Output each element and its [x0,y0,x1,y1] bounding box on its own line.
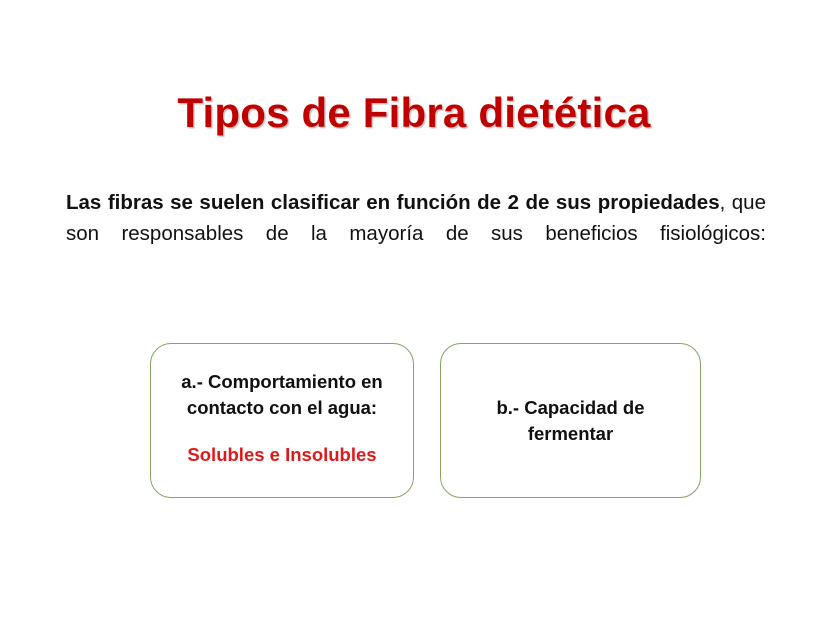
slide-canvas: Tipos de Fibra dietética Las fibras se s… [0,0,828,621]
concept-box-a-subline: Solubles e Insolubles [187,442,376,468]
concept-box-a: a.- Comportamiento en contacto con el ag… [150,343,414,498]
body-paragraph: Las fibras se suelen clasificar en funci… [66,187,766,282]
page-title: Tipos de Fibra dietética [0,90,828,136]
concept-box-b-heading: b.- Capacidad de fermentar [455,395,686,446]
concept-box-a-heading: a.- Comportamiento en contacto con el ag… [163,369,401,420]
body-paragraph-bold: Las fibras se suelen clasificar en funci… [66,191,720,214]
concept-box-b: b.- Capacidad de fermentar [440,343,701,498]
